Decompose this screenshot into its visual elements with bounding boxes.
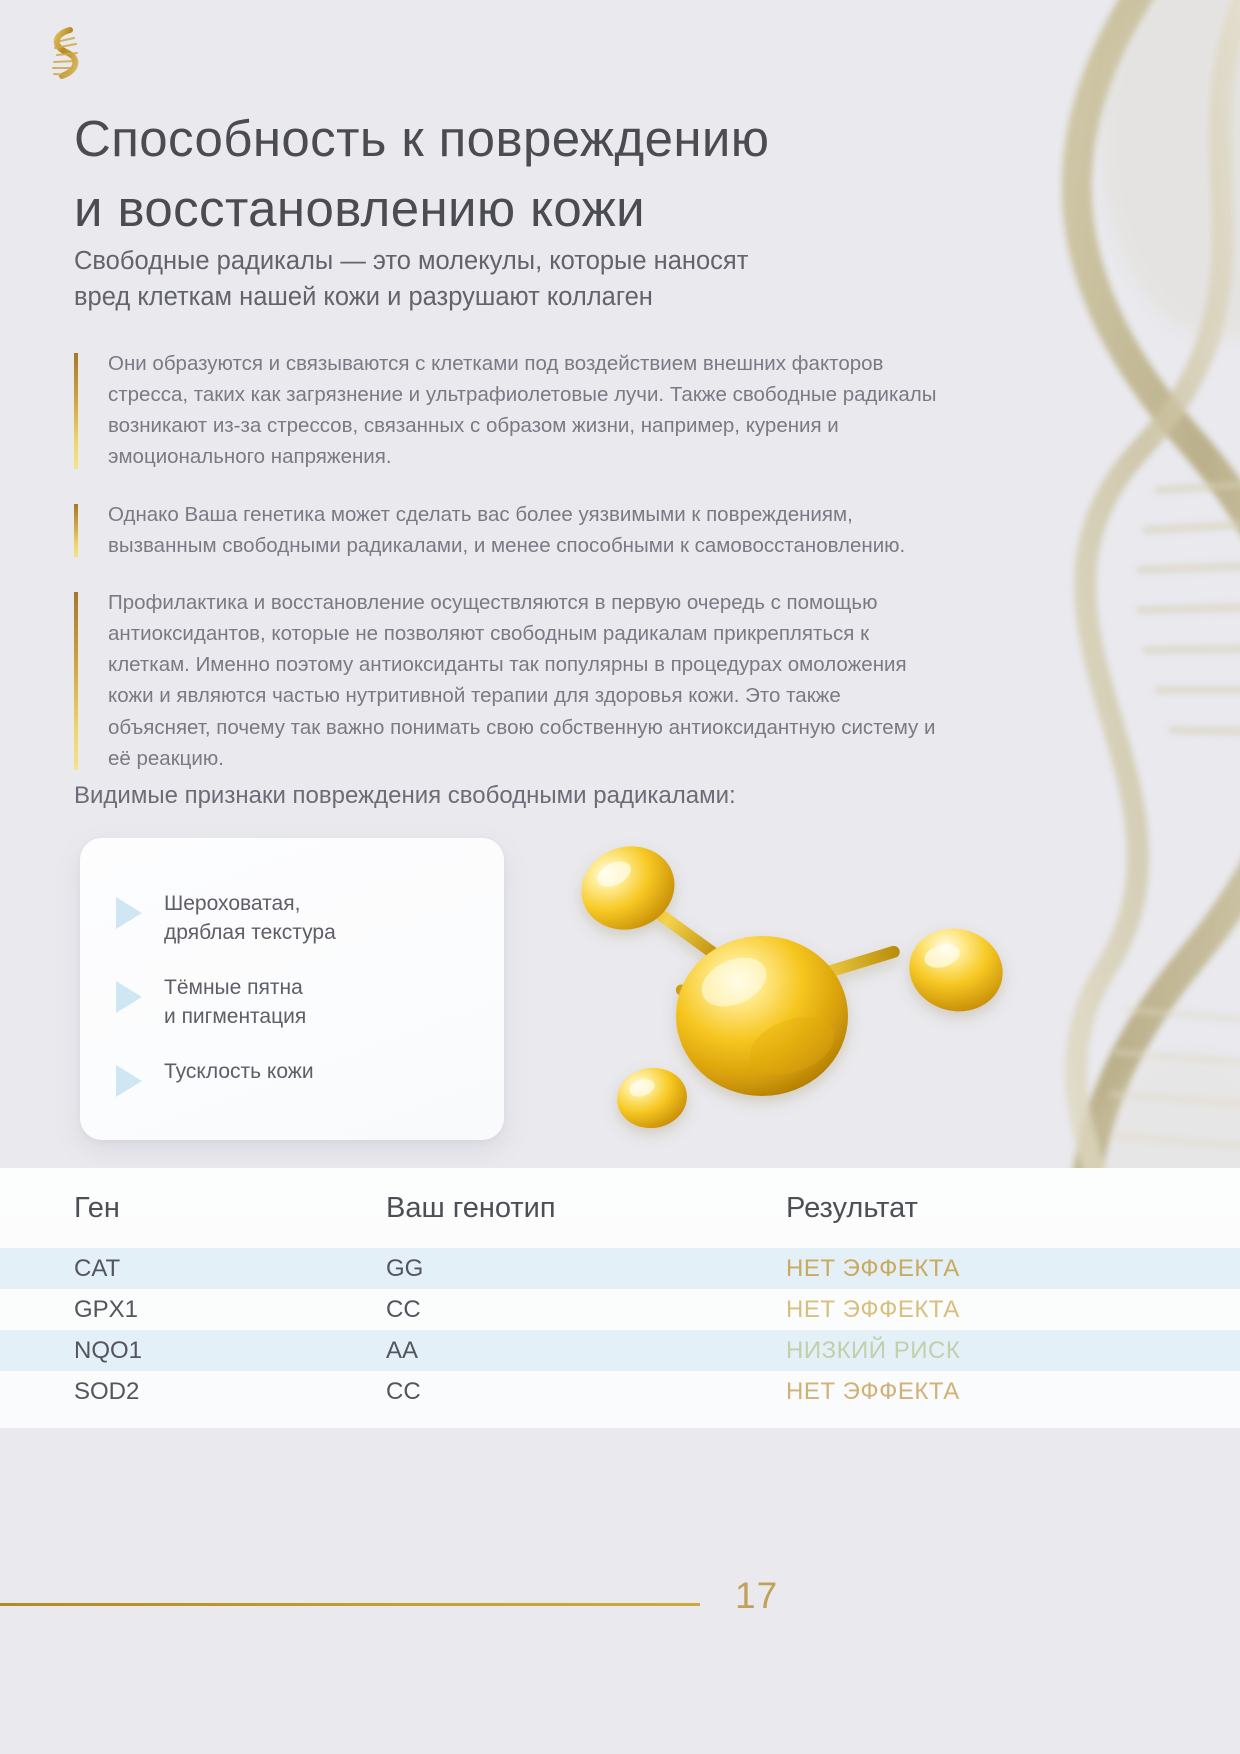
page-title-line-1: Способность к повреждению [74,104,974,174]
list-item-label: Тёмные пятнаи пигментация [164,974,306,1032]
cell-genotype: CC [386,1378,786,1406]
table-row: GPX1 CC НЕТ ЭФФЕКТА [0,1289,1240,1330]
body-paragraph: Профилактика и восстановление осуществля… [74,587,949,774]
cell-genotype: AA [386,1337,786,1365]
cell-gene: NQO1 [74,1337,386,1365]
list-item: Шероховатая,дряблая текстура [114,890,470,948]
triangle-right-icon [116,981,142,1013]
table-row: SOD2 CC НЕТ ЭФФЕКТА [0,1371,1240,1412]
body-paragraph-text: Профилактика и восстановление осуществля… [108,587,949,774]
gold-accent-bar [74,353,78,469]
triangle-right-icon [116,1065,142,1097]
visible-signs-heading: Видимые признаки повреждения свободными … [74,782,736,810]
cell-result: НЕТ ЭФФЕКТА [786,1378,1166,1406]
subtitle-line-1: Свободные радикалы — это молекулы, котор… [74,243,954,279]
page-number: 17 [735,1575,778,1617]
subtitle-line-2: вред клеткам нашей кожи и разрушают колл… [74,279,954,315]
cell-result: НЕТ ЭФФЕКТА [786,1296,1166,1324]
cell-gene: GPX1 [74,1296,386,1324]
body-paragraph-list: Они образуются и связываются с клетками … [74,348,949,774]
table-row: CAT GG НЕТ ЭФФЕКТА [0,1248,1240,1289]
cell-genotype: GG [386,1255,786,1283]
list-item-label: Тусклость кожи [164,1058,314,1087]
cell-result: НИЗКИЙ РИСК [786,1337,1166,1365]
page-footer: 17 [0,1428,1240,1754]
footer-divider [0,1603,700,1606]
body-paragraph: Однако Ваша генетика может сделать вас б… [74,499,949,561]
genotype-results-table: Ген Ваш генотип Результат CAT GG НЕТ ЭФФ… [0,1168,1240,1428]
column-header-result: Результат [786,1192,1166,1225]
table-header-row: Ген Ваш генотип Результат [0,1168,1240,1248]
page-subtitle: Свободные радикалы — это молекулы, котор… [74,243,954,315]
list-item: Тусклость кожи [114,1058,470,1097]
list-item: Тёмные пятнаи пигментация [114,974,470,1032]
column-header-gene: Ген [74,1192,386,1225]
cell-result: НЕТ ЭФФЕКТА [786,1255,1166,1283]
column-header-genotype: Ваш генотип [386,1192,786,1225]
dna-helix-icon [36,22,92,84]
cell-gene: CAT [74,1255,386,1283]
cell-genotype: CC [386,1296,786,1324]
triangle-right-icon [116,897,142,929]
gold-accent-bar [74,504,78,557]
report-page: { "colors": { "page_bg": "#e9e9ee", "gol… [0,0,1240,1754]
gold-accent-bar [74,592,78,770]
table-row: NQO1 AA НИЗКИЙ РИСК [0,1330,1240,1371]
list-item-label: Шероховатая,дряблая текстура [164,890,336,948]
cell-gene: SOD2 [74,1378,386,1406]
visible-signs-card: Шероховатая,дряблая текстура Тёмные пятн… [80,838,504,1140]
body-paragraph: Они образуются и связываются с клетками … [74,348,949,473]
body-paragraph-text: Однако Ваша генетика может сделать вас б… [108,499,949,561]
gold-molecule-illustration [560,820,1030,1160]
page-title: Способность к повреждению и восстановлен… [74,104,974,245]
body-paragraph-text: Они образуются и связываются с клетками … [108,348,949,473]
page-title-line-2: и восстановлению кожи [74,174,974,244]
